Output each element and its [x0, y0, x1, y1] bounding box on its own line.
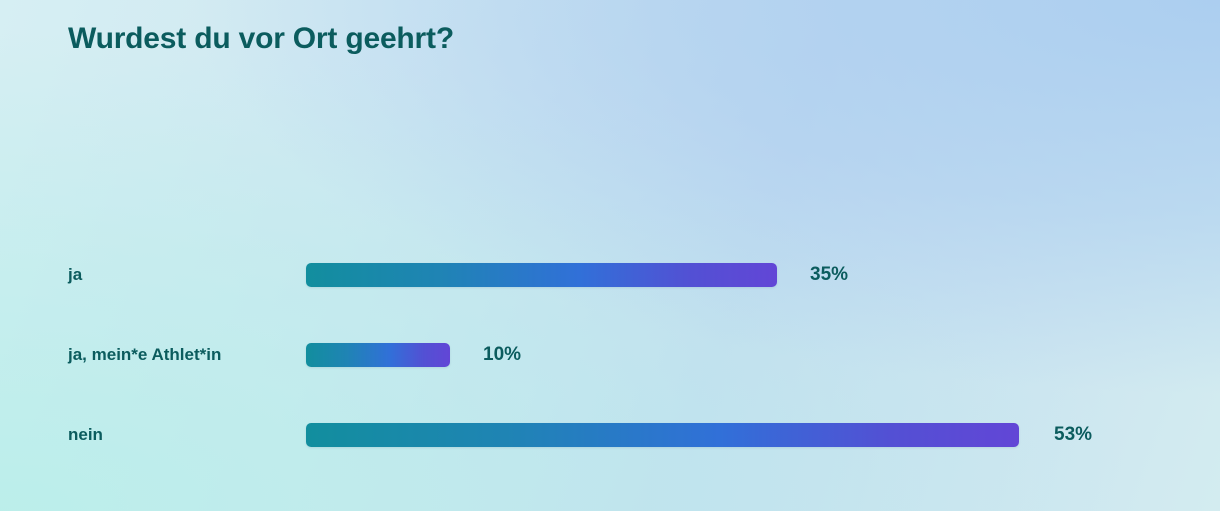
bar-category-label: ja, mein*e Athlet*in: [68, 335, 221, 375]
chart-canvas: Wurdest du vor Ort geehrt? ja 35% ja, me…: [0, 0, 1220, 511]
bar-value-label: 10%: [483, 335, 521, 375]
bar-track: [306, 343, 450, 367]
bar-value-label: 53%: [1054, 415, 1092, 455]
bar-row: nein 53%: [0, 415, 1220, 455]
bar-row: ja 35%: [0, 255, 1220, 295]
bar-fill: [306, 263, 777, 287]
bar-chart-plot-area: ja 35% ja, mein*e Athlet*in 10% nein 53%: [0, 0, 1220, 511]
bar-fill: [306, 423, 1019, 447]
bar-value-label: 35%: [810, 255, 848, 295]
bar-category-label: ja: [68, 255, 82, 295]
bar-category-label: nein: [68, 415, 103, 455]
bar-track: [306, 423, 1019, 447]
bar-row: ja, mein*e Athlet*in 10%: [0, 335, 1220, 375]
bar-fill: [306, 343, 450, 367]
bar-track: [306, 263, 777, 287]
